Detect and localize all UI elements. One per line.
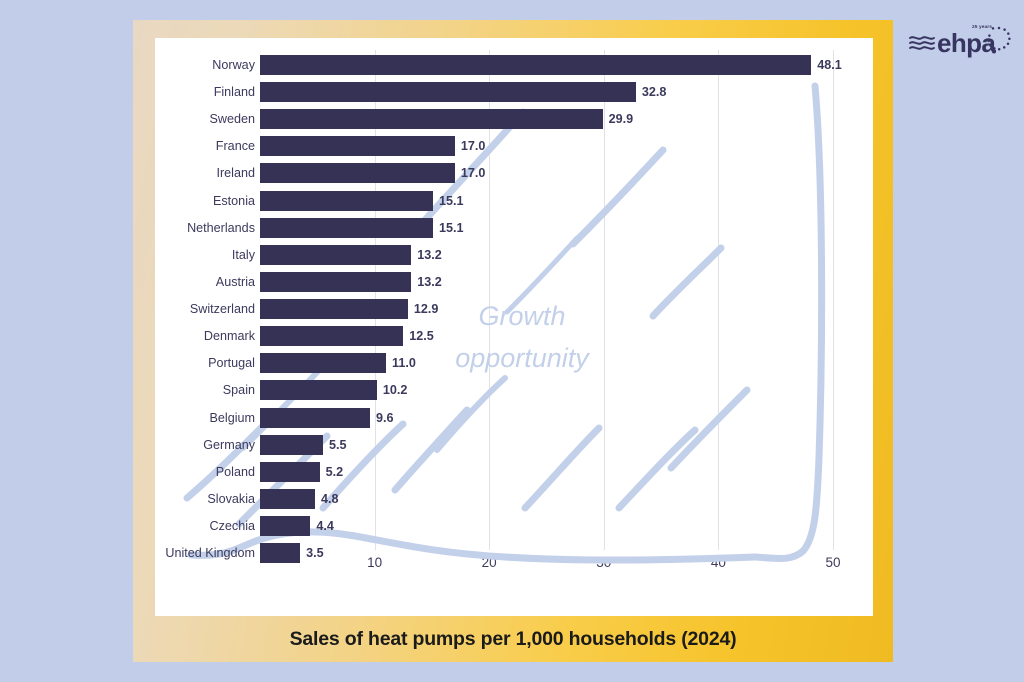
bar[interactable] [260,462,320,482]
bar[interactable] [260,516,310,536]
bar[interactable] [260,163,455,183]
bar-row: Portugal11.0 [155,352,873,374]
bar[interactable] [260,55,811,75]
bar[interactable] [260,272,411,292]
bar[interactable] [260,353,386,373]
bar[interactable] [260,299,408,319]
ehpa-logo[interactable]: ehpa [908,24,1012,60]
bar[interactable] [260,245,411,265]
category-label: Switzerland [155,298,255,320]
bar-row: Sweden29.9 [155,108,873,130]
bar[interactable] [260,109,603,129]
bar-value-label: 15.1 [439,190,464,212]
bar-value-label: 17.0 [461,135,486,157]
bar[interactable] [260,435,323,455]
category-label: Spain [155,379,255,401]
bar-row: Italy13.2 [155,244,873,266]
category-label: Germany [155,434,255,456]
bar[interactable] [260,543,300,563]
bar[interactable] [260,408,370,428]
chart-title: Sales of heat pumps per 1,000 households… [133,616,893,662]
bar[interactable] [260,380,377,400]
bar-value-label: 15.1 [439,217,464,239]
category-label: Denmark [155,325,255,347]
bar[interactable] [260,489,315,509]
bar-row: Denmark12.5 [155,325,873,347]
chart-card: 1020304050 [133,20,893,662]
bar[interactable] [260,136,455,156]
category-label: Portugal [155,352,255,374]
bar-row: United Kingdom3.5 [155,542,873,564]
category-label: Finland [155,81,255,103]
bar-row: France17.0 [155,135,873,157]
bar-value-label: 11.0 [392,352,416,374]
bar-row: Belgium9.6 [155,407,873,429]
bar-value-label: 32.8 [642,81,667,103]
category-label: Belgium [155,407,255,429]
bar-value-label: 13.2 [417,244,442,266]
bar-value-label: 9.6 [376,407,394,429]
bar-value-label: 29.9 [609,108,634,130]
category-label: Austria [155,271,255,293]
bar-row: Ireland17.0 [155,162,873,184]
bar-value-label: 3.5 [306,542,324,564]
bar-row: Finland32.8 [155,81,873,103]
bar-row: Austria13.2 [155,271,873,293]
bar-value-label: 5.2 [326,461,344,483]
bar-value-label: 4.8 [321,488,339,510]
bar-value-label: 5.5 [329,434,347,456]
category-label: Ireland [155,162,255,184]
bar[interactable] [260,191,433,211]
bar[interactable] [260,82,636,102]
category-label: Sweden [155,108,255,130]
bar-row: Netherlands15.1 [155,217,873,239]
category-label: Czechia [155,515,255,537]
bar-value-label: 12.9 [414,298,439,320]
bar-value-label: 17.0 [461,162,486,184]
logo-dot [992,50,996,54]
category-label: Netherlands [155,217,255,239]
category-label: United Kingdom [155,542,255,564]
plot-area: 1020304050 [155,38,873,616]
bar-value-label: 48.1 [817,54,842,76]
bar-value-label: 12.5 [409,325,434,347]
bar[interactable] [260,218,433,238]
bar-row: Spain10.2 [155,379,873,401]
bar-value-label: 4.4 [316,515,334,537]
bar-value-label: 10.2 [383,379,408,401]
category-label: Italy [155,244,255,266]
bar-row: Czechia4.4 [155,515,873,537]
bar-row: Poland5.2 [155,461,873,483]
bar-row: Switzerland12.9 [155,298,873,320]
category-label: Norway [155,54,255,76]
logo-wordmark: ehpa [937,28,996,58]
bar-value-label: 13.2 [417,271,442,293]
waves-icon [910,37,934,49]
category-label: Slovakia [155,488,255,510]
screenshot-root: 1020304050 [0,0,1024,682]
logo-anniversary-label: 25 years [972,25,992,30]
bar-row: Norway48.1 [155,54,873,76]
plot-card: 1020304050 [155,38,873,616]
bar[interactable] [260,326,403,346]
category-label: Estonia [155,190,255,212]
category-label: France [155,135,255,157]
bar-row: Germany5.5 [155,434,873,456]
bar-row: Slovakia4.8 [155,488,873,510]
bar-row: Estonia15.1 [155,190,873,212]
category-label: Poland [155,461,255,483]
